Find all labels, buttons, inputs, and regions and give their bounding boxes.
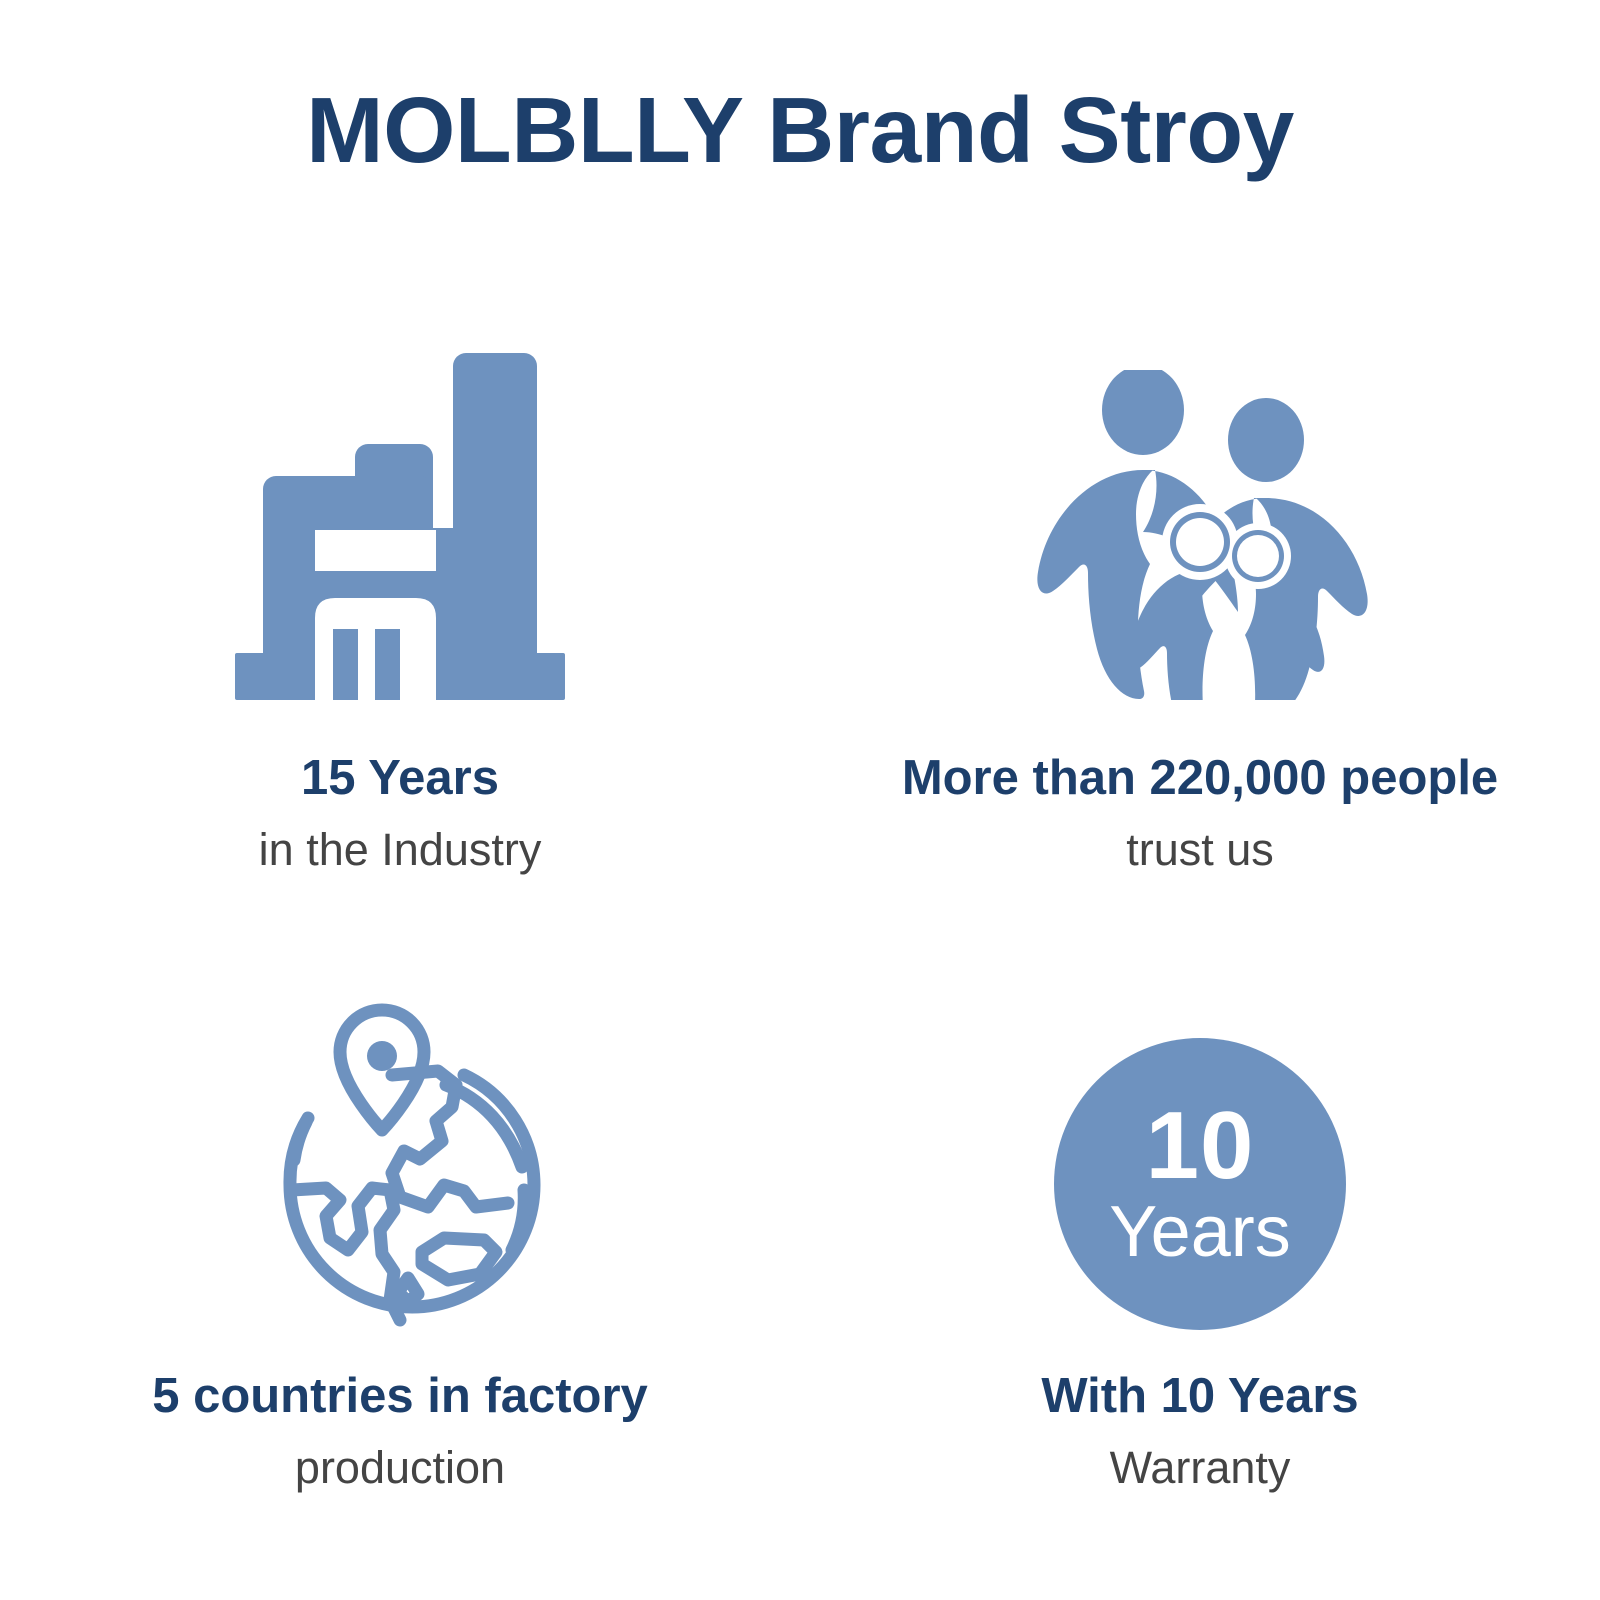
stat-subline: trust us: [1126, 824, 1274, 876]
family-people-icon: [1030, 370, 1370, 700]
stat-card-warranty: 10 Years With 10 Years Warranty: [800, 930, 1600, 1560]
globe-location-pin-icon: [250, 1000, 550, 1330]
stat-headline: 15 Years: [301, 752, 499, 806]
stat-subline: in the Industry: [259, 824, 542, 876]
factory-icon-wrap: [0, 300, 800, 700]
warranty-badge-icon: 10 Years: [1054, 1038, 1346, 1330]
stat-card-countries: 5 countries in factory production: [0, 930, 800, 1560]
globe-icon-wrap: [0, 930, 800, 1330]
factory-icon: [235, 348, 565, 700]
stat-headline: With 10 Years: [1041, 1370, 1358, 1424]
stat-card-people-trust: More than 220,000 people trust us: [800, 300, 1600, 930]
stat-headline: More than 220,000 people: [902, 752, 1498, 806]
badge-unit: Years: [1109, 1196, 1290, 1268]
warranty-badge-wrap: 10 Years: [800, 930, 1600, 1330]
stats-grid: 15 Years in the Industry: [0, 300, 1600, 1560]
family-icon-wrap: [800, 300, 1600, 700]
badge-number: 10: [1146, 1100, 1255, 1191]
page-title: MOLBLLY Brand Stroy: [0, 82, 1600, 180]
stat-card-years-in-industry: 15 Years in the Industry: [0, 300, 800, 930]
infographic-page: MOLBLLY Brand Stroy: [0, 0, 1600, 1600]
stat-subline: Warranty: [1110, 1442, 1291, 1494]
stat-subline: production: [295, 1442, 505, 1494]
stat-headline: 5 countries in factory: [152, 1370, 648, 1424]
